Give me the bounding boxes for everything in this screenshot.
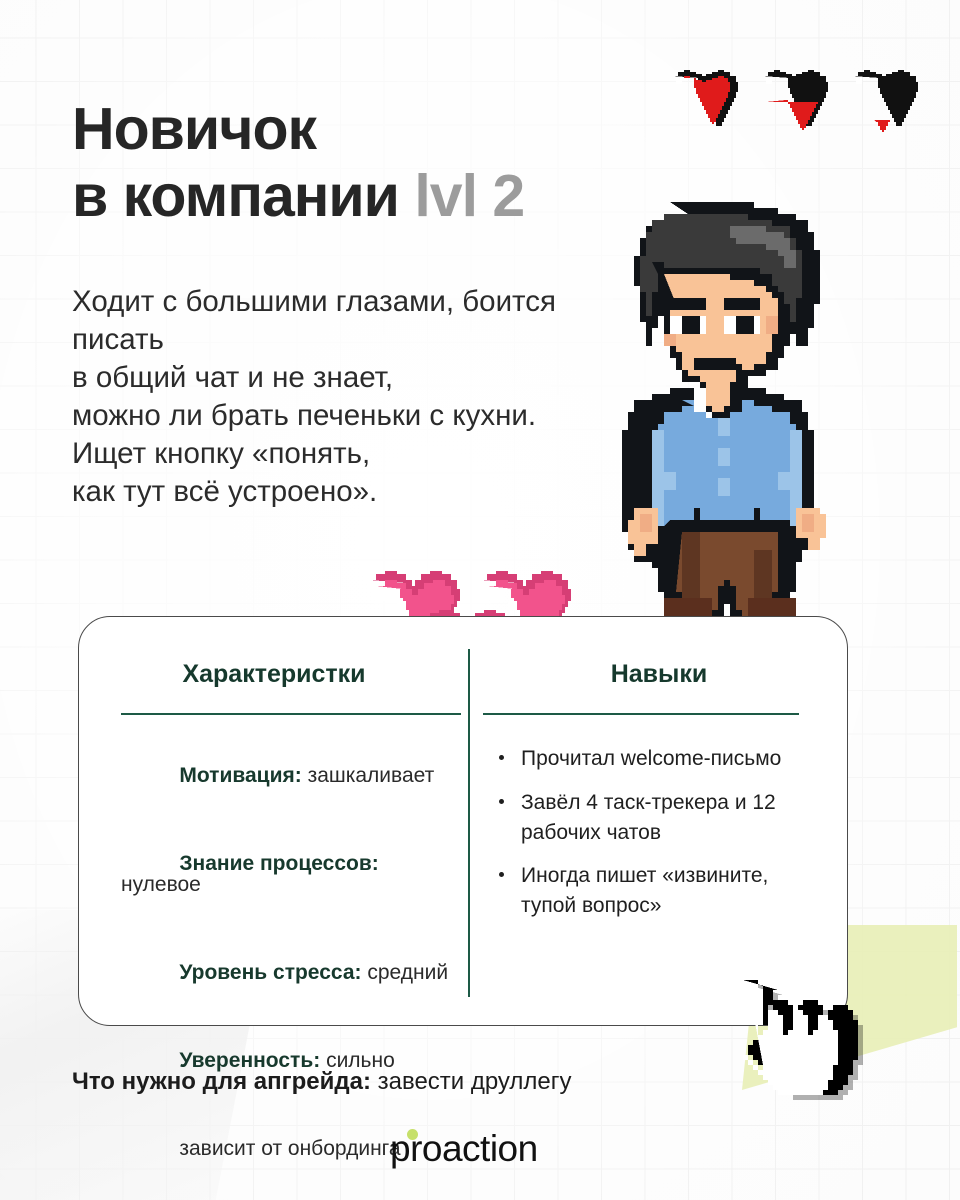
skills-rule bbox=[483, 713, 799, 715]
stats-list: Мотивация: зашкаливает Знание процессов:… bbox=[121, 744, 451, 1180]
brand-accent-dot-icon bbox=[407, 1129, 418, 1140]
upgrade-note: Что нужно для апгрейда: завести друллегу bbox=[72, 1068, 572, 1096]
stats-rule bbox=[121, 713, 461, 715]
stat-value: средний bbox=[362, 961, 449, 984]
stats-column: Характеристки Мотивация: зашкаливает Зна… bbox=[79, 617, 469, 1200]
stat-row: Знание процессов: нулевое bbox=[121, 832, 451, 916]
list-item: Завёл 4 таск-трекера и 12 рабочих чатов bbox=[495, 788, 825, 848]
bullet-icon bbox=[499, 799, 504, 804]
stats-heading: Характеристки bbox=[79, 660, 469, 689]
infographic-page: Характеристки Мотивация: зашкаливает Зна… bbox=[0, 0, 960, 1200]
title-line-2-text: в компании bbox=[72, 163, 399, 229]
list-item: Прочитал welcome-письмо bbox=[495, 744, 825, 774]
list-item: Иногда пишет «извините, тупой вопрос» bbox=[495, 861, 825, 921]
stat-value: зависит от онбординга bbox=[179, 1137, 400, 1160]
skills-heading: Навыки bbox=[469, 660, 849, 689]
pixel-heart-empty bbox=[852, 70, 918, 132]
skill-text: Завёл 4 таск-трекера и 12 рабочих чатов bbox=[521, 791, 776, 844]
stat-label: Уровень стресса: bbox=[179, 961, 361, 984]
level-badge: lvl 2 bbox=[414, 163, 524, 229]
stat-value: зашкаливает bbox=[302, 764, 435, 787]
upgrade-value: завести друллегу bbox=[371, 1068, 572, 1095]
health-hearts-group bbox=[666, 68, 918, 134]
bullet-icon bbox=[499, 755, 504, 760]
title-line-2: в компании lvl 2 bbox=[72, 163, 692, 230]
intro-description: Ходит с большими глазами, боится писать … bbox=[72, 283, 572, 511]
pixel-heart-half bbox=[762, 70, 828, 130]
skill-text: Прочитал welcome-письмо bbox=[521, 747, 781, 770]
upgrade-label: Что нужно для апгрейда: bbox=[72, 1068, 371, 1095]
stat-label: Знание процессов: bbox=[179, 852, 378, 875]
stat-row: Мотивация: зашкаливает bbox=[121, 744, 451, 807]
skill-text: Иногда пишет «извините, тупой вопрос» bbox=[521, 864, 768, 917]
pixel-character-newcomer bbox=[604, 196, 856, 616]
character-stat-card: Характеристки Мотивация: зашкаливает Зна… bbox=[78, 616, 848, 1026]
stat-row: Уровень стресса: средний bbox=[121, 941, 451, 1004]
skills-list: Прочитал welcome-письмо Завёл 4 таск-тре… bbox=[495, 744, 825, 921]
skills-column: Навыки Прочитал welcome-письмо Завёл 4 т… bbox=[469, 617, 849, 935]
title-line-1: Новичок bbox=[72, 96, 692, 163]
page-title: Новичок в компании lvl 2 bbox=[72, 96, 692, 229]
pixel-hand-pointer-icon bbox=[718, 975, 868, 1100]
stat-label: Мотивация: bbox=[179, 764, 301, 787]
bullet-icon bbox=[499, 872, 504, 877]
